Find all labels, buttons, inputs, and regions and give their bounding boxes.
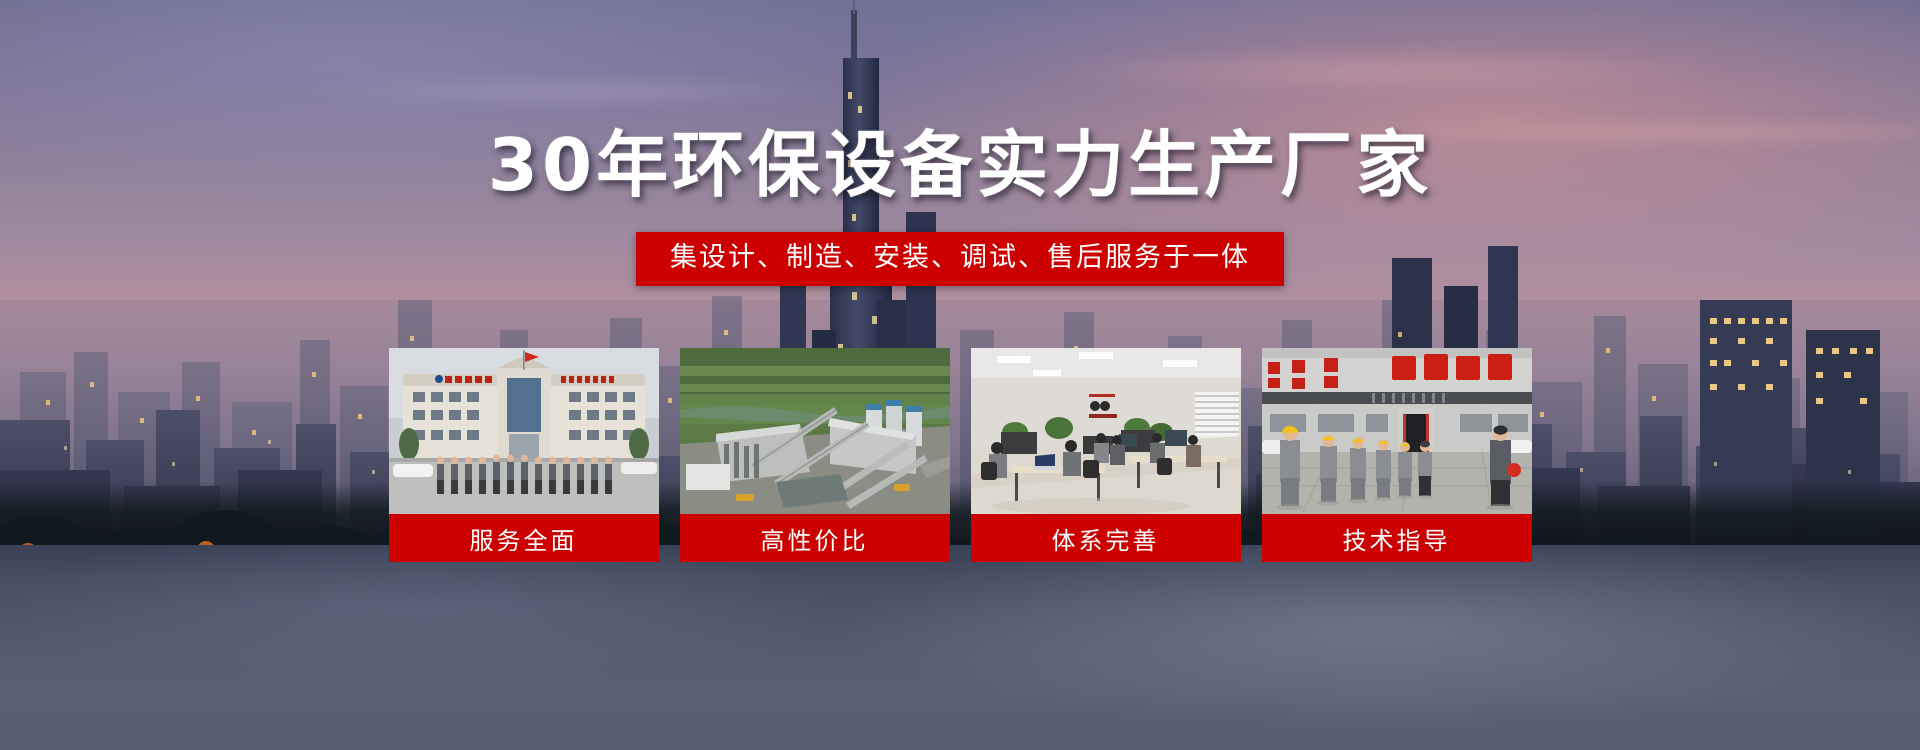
card-photo-aerial-plant [680, 348, 950, 514]
water-reflection [0, 545, 1920, 750]
card-photo-workshop-team [1262, 348, 1532, 514]
feature-card-list: 服务全面 [0, 348, 1920, 562]
feature-card[interactable]: 体系完善 [971, 348, 1241, 562]
feature-card[interactable]: 服务全面 [389, 348, 659, 562]
page-title: 30年环保设备实力生产厂家 [0, 106, 1920, 211]
card-caption: 技术指导 [1262, 514, 1532, 562]
subtitle-container: 集设计、制造、安装、调试、售后服务于一体 [0, 232, 1920, 286]
card-caption: 服务全面 [389, 514, 659, 562]
feature-card[interactable]: 高性价比 [680, 348, 950, 562]
card-photo-office-building [389, 348, 659, 514]
card-caption: 高性价比 [680, 514, 950, 562]
subtitle-badge: 集设计、制造、安装、调试、售后服务于一体 [636, 232, 1284, 286]
card-caption: 体系完善 [971, 514, 1241, 562]
card-photo-office-interior [971, 348, 1241, 514]
feature-card[interactable]: 技术指导 [1262, 348, 1532, 562]
hero-banner: 30年环保设备实力生产厂家 集设计、制造、安装、调试、售后服务于一体 [0, 0, 1920, 750]
